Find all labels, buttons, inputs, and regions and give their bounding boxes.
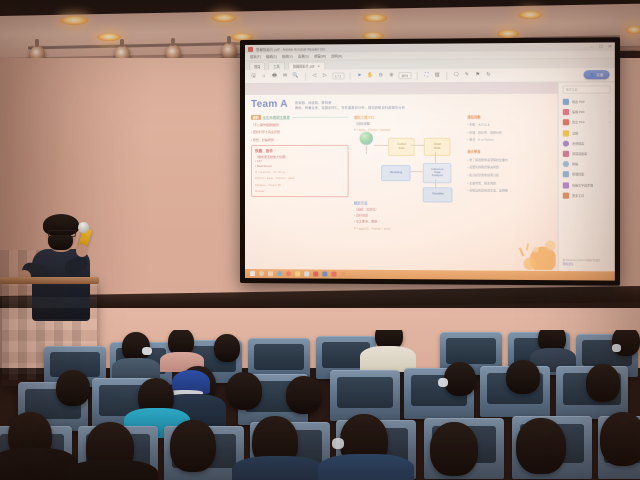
- maximize-button[interactable]: ▢: [599, 45, 603, 49]
- right-bullet-1-1: • 年級：大三以上: [467, 122, 551, 127]
- right-bullet-1-2: • 修課：統計學、迴歸分析: [467, 130, 551, 135]
- tools-footer-link[interactable]: 瞭解更多: [563, 262, 611, 266]
- tool-label: 整理頁面: [572, 173, 584, 177]
- lecture-hall-photo: 簡報投影片.pdf - Adobe Acrobat Reader DC — ▢ …: [0, 0, 640, 480]
- slide-left-column: 資料 全生命週期主題選 （不公開作相關課題） • 更新科學大與主評量 • 發想、…: [251, 114, 349, 264]
- arrow-collect-clean: [411, 144, 424, 145]
- ppt-icon[interactable]: [340, 272, 345, 277]
- baseball-cap: [172, 370, 210, 394]
- tools-box: 軟體、套件 （擅成果互動放大化圖） • API • Dashboard R / …: [251, 145, 349, 197]
- left-bullet-1: • 更新科學大與主評量: [251, 130, 349, 135]
- right-bullet-2-1: • 想了解實際專案流程的企業內: [467, 158, 551, 163]
- toolbar-separator-2: [350, 72, 351, 80]
- pdf-page: Team A 詹崇御、林俊凱、鄭祥淵 黃昕、柯書文彥、電腦系同仁、零售業數據分析…: [245, 83, 558, 272]
- zoom-in-icon[interactable]: ⊕: [388, 72, 395, 79]
- toolbar-separator-3: [417, 72, 418, 80]
- menu-window[interactable]: 視窗(W): [314, 53, 326, 58]
- left-subtitle: （不公開作相關課題）: [251, 123, 349, 127]
- tools-sidebar: 搜尋工具 輸出 PDF ˅ 編輯 PDF ˅: [558, 82, 615, 271]
- export-pdf-icon: [563, 99, 569, 105]
- flow-node-modeling: Modeling: [381, 165, 411, 181]
- audience-shoulders: [66, 460, 158, 480]
- tool-list-1: R / plumber、R / shiny: [255, 170, 345, 175]
- page-next-icon[interactable]: ▷: [321, 73, 328, 80]
- tool-item-edit-text[interactable]: 編輯文字與影像: [559, 180, 615, 190]
- audience-head: [286, 376, 322, 414]
- menu-edit[interactable]: 編輯(E): [266, 54, 277, 59]
- edit-text-icon: [563, 182, 569, 188]
- right-bullet-2-4: • 主動學習、探索問題: [467, 181, 551, 186]
- audience-area: [0, 330, 640, 480]
- home-icon[interactable]: ⌂: [261, 73, 268, 80]
- combine-files-icon: [563, 140, 569, 146]
- left-section-badge: 資料: [251, 115, 261, 121]
- toolbar-separator-1: [305, 72, 306, 80]
- projected-image: 簡報投影片.pdf - Adobe Acrobat Reader DC — ▢ …: [245, 42, 615, 280]
- mail-icon[interactable]: [304, 271, 309, 276]
- right-bullet-2-2: • 需要利用程式解決問題: [467, 165, 551, 170]
- audience-shoulders: [112, 358, 160, 380]
- audience-head: [214, 334, 240, 362]
- podium-top: [0, 277, 99, 284]
- zoom-out-icon[interactable]: ⊖: [377, 72, 384, 79]
- right-bullet-2-3: • 對分析望著重效率分析: [467, 173, 551, 178]
- folder-icon[interactable]: [295, 271, 300, 276]
- fill-sign-icon: [563, 151, 569, 157]
- search-icon[interactable]: [259, 271, 264, 276]
- start-icon[interactable]: [250, 271, 255, 276]
- tool-label: 壓縮: [572, 162, 578, 166]
- arrow-globe-collect: [374, 144, 388, 145]
- acrobat-body: Team A 詹崇御、林俊凱、鄭祥淵 黃昕、柯書文彥、電腦系同仁、零售業數據分析…: [245, 82, 615, 271]
- fit-page-icon[interactable]: ⛶: [423, 72, 430, 79]
- tools-search-input[interactable]: 搜尋工具: [563, 85, 611, 93]
- tool-item-comment[interactable]: 註解: [559, 128, 615, 138]
- highlight-icon[interactable]: ▨: [434, 72, 441, 79]
- tools-box-title: 軟體、套件: [255, 149, 345, 154]
- document-pane[interactable]: Team A 詹崇御、林俊凱、鄭祥淵 黃昕、柯書文彥、電腦系同仁、零售業數據分析…: [245, 83, 558, 272]
- slide-authors: 詹崇御、林俊凱、鄭祥淵 黃昕、柯書文彥、電腦系同仁、零售業數據分析、國資訊驗資料…: [295, 99, 405, 110]
- left-section-header: 資料 全生命週期主題選: [251, 114, 349, 120]
- compress-icon: [563, 161, 569, 167]
- slide-content: Team A 詹崇御、林俊凱、鄭祥淵 黃昕、柯書文彥、電腦系同仁、零售業數據分析…: [245, 94, 558, 271]
- tool-label: 輸出 PDF: [572, 100, 585, 104]
- projection-screen: 簡報投影片.pdf - Adobe Acrobat Reader DC — ▢ …: [240, 37, 620, 286]
- divider: [292, 117, 349, 118]
- downlight-3: [212, 14, 236, 22]
- audience-head: [600, 412, 640, 466]
- right-bullet-1-3: • 程式：R or Python: [467, 138, 551, 143]
- word-icon[interactable]: [322, 272, 327, 277]
- right-heading-1: 課程規劃: [467, 114, 551, 119]
- tool-item-export-pdf[interactable]: 輸出 PDF ˅: [559, 97, 615, 108]
- tab-home-label: 首頁: [254, 64, 260, 69]
- middle-source-label: （資料清理）: [354, 121, 462, 125]
- downlight-8: [497, 30, 519, 38]
- middle-bottom-bullet-2: • 交叉應用、圖像: [354, 219, 462, 224]
- toolbar-separator-4: [446, 71, 447, 79]
- middle-bottom-subtitle: （迴歸、常變化）: [354, 207, 462, 211]
- tool-item-edit-pdf[interactable]: 編輯 PDF ˅: [559, 107, 615, 118]
- tool-item-more-tools[interactable]: 更多工具: [559, 190, 615, 201]
- tools-box-bullet-1: • API: [255, 159, 345, 164]
- audience-head: [56, 370, 90, 406]
- flow-node-inference: Inference Data Analysis: [423, 163, 452, 183]
- search-icon[interactable]: 🔍: [292, 73, 299, 80]
- face-mask: [332, 438, 344, 449]
- share-icon: 👤: [590, 73, 594, 77]
- face-mask: [142, 347, 152, 355]
- decorative-illustration: [502, 233, 556, 270]
- globe-icon: [360, 131, 373, 144]
- select-tool-icon[interactable]: ➤: [356, 72, 363, 79]
- authors-line-2: 黃昕、柯書文彥、電腦系同仁、零售業數據分析、國資訊驗資料處理及分析: [295, 105, 405, 110]
- downlight-2: [97, 33, 121, 41]
- tool-label: 編輯 PDF: [572, 110, 585, 114]
- tool-item-create-pdf[interactable]: 建立 PDF ˅: [559, 117, 615, 128]
- audience-head: [516, 418, 566, 474]
- tool-label: 註解: [572, 131, 578, 135]
- window-title: 簡報投影片.pdf - Adobe Acrobat Reader DC: [256, 46, 325, 51]
- arrow-inference-visualize: [435, 179, 436, 187]
- tool-item-fill-sign[interactable]: 填寫與簽署: [559, 149, 615, 159]
- tab-home[interactable]: 首頁: [249, 62, 265, 70]
- flow-node-visualize: Visualize: [423, 187, 453, 202]
- tool-item-combine-files[interactable]: 合併檔案: [559, 138, 615, 148]
- presenter-right-hand: [76, 244, 88, 257]
- audience-head: [612, 330, 640, 356]
- downlight-1: [60, 16, 88, 25]
- face-mask: [48, 235, 73, 250]
- comment-icon[interactable]: 🗨: [453, 72, 460, 79]
- menu-sign[interactable]: 簽署(S): [298, 54, 309, 59]
- create-pdf-icon: [563, 120, 569, 126]
- tab-tools-label: 工具: [273, 64, 279, 69]
- downlight-9: [626, 26, 640, 34]
- audience-head: [444, 362, 476, 396]
- audience-head: [430, 422, 478, 476]
- tool-label: 更多工具: [572, 193, 584, 197]
- face-mask: [438, 378, 448, 387]
- flow-diagram: Collect Data Clean Data Inference Data A…: [354, 135, 462, 198]
- window-controls: — ▢ ✕: [590, 44, 612, 48]
- audience-shoulders: [318, 454, 414, 480]
- chevron-down-icon[interactable]: ˅: [609, 110, 611, 114]
- flow-node-clean: Clean Data: [424, 137, 451, 155]
- slide-middle-column: 資料之理 ETL （資料清理） R / dplyr、Python / panda…: [354, 114, 462, 265]
- hand-tool-icon[interactable]: ✋: [367, 72, 374, 79]
- acrobat-app-icon: [248, 46, 253, 51]
- acrobat-icon[interactable]: [313, 271, 318, 276]
- pen-icon[interactable]: ✎: [463, 72, 470, 79]
- menu-help[interactable]: 說明(H): [331, 53, 342, 58]
- audience-shoulders: [232, 456, 324, 480]
- comment-icon: [563, 130, 569, 136]
- slide-title: Team A: [251, 100, 288, 110]
- chrome-icon[interactable]: [286, 271, 291, 276]
- audience-head: [586, 364, 620, 402]
- middle-source-value: R / dplyr、Python / pandas: [354, 127, 462, 131]
- tool-item-organize-pages[interactable]: 整理頁面: [559, 169, 615, 179]
- email-icon[interactable]: ✉: [282, 73, 289, 80]
- face-mask: [612, 344, 621, 352]
- excel-icon[interactable]: [331, 272, 336, 277]
- zoom-level[interactable]: 80%: [399, 72, 412, 79]
- tool-item-compress[interactable]: 壓縮: [559, 159, 615, 169]
- chevron-down-icon[interactable]: ˅: [609, 100, 611, 104]
- taskview-icon[interactable]: [268, 271, 273, 276]
- tool-label: 填寫與簽署: [572, 152, 587, 156]
- tab-document[interactable]: 簡報投影片.pdf ✕: [288, 61, 325, 69]
- middle-section-title: 資料之理 ETL: [354, 114, 462, 119]
- middle-bottom-note: R / ggplot2、Python / plotly: [354, 226, 462, 230]
- menu-view[interactable]: 檢視(V): [282, 54, 293, 59]
- rotate-icon[interactable]: ↻: [485, 72, 492, 79]
- right-heading-2: 適合學員: [467, 149, 551, 154]
- tools-footer: 將 Document Cloud 中儲存的檔案 瞭解更多: [559, 256, 615, 268]
- downlight-5: [363, 14, 387, 22]
- left-section-title: 全生命週期主題選: [263, 115, 290, 120]
- slide-header: Team A 詹崇御、林俊凱、鄭祥淵 黃昕、柯書文彥、電腦系同仁、零售業數據分析…: [251, 99, 551, 111]
- middle-bottom-bullet-1: • 資料視覺: [354, 213, 462, 218]
- downlight-7: [518, 11, 542, 19]
- tab-tools[interactable]: 工具: [268, 62, 284, 70]
- minimize-button[interactable]: —: [590, 45, 594, 49]
- audience-head: [170, 420, 216, 472]
- chevron-down-icon[interactable]: ˅: [609, 121, 611, 125]
- organize-pages-icon: [563, 172, 569, 178]
- page-indicator: 1 / 1: [332, 72, 344, 79]
- print-icon[interactable]: 🖶: [271, 73, 278, 80]
- left-bullet-2: • 發想、討論問題: [251, 138, 349, 143]
- acrobat-window: 簡報投影片.pdf - Adobe Acrobat Reader DC — ▢ …: [245, 42, 615, 280]
- share-button[interactable]: 👤 共用: [584, 70, 610, 79]
- audience-head: [506, 360, 540, 394]
- edge-icon[interactable]: [277, 271, 282, 276]
- tools-box-bullet-2: • Dashboard: [255, 164, 345, 169]
- tool-label: 建立 PDF: [572, 121, 585, 125]
- tool-list-4: Docker: [255, 189, 345, 194]
- windows-taskbar: [245, 269, 615, 281]
- tab-document-label: 簡報投影片.pdf: [293, 64, 314, 69]
- share-label: 共用: [596, 72, 603, 77]
- close-icon[interactable]: ✕: [317, 64, 320, 68]
- tool-label: 合併檔案: [572, 141, 584, 145]
- tools-box-subtitle: （擅成果互動放大化圖）: [255, 155, 345, 159]
- arrow-clean-inference: [435, 151, 436, 162]
- tool-list-2: Python / flask、Python / dash: [255, 176, 345, 181]
- edit-pdf-icon: [563, 109, 569, 115]
- page-prev-icon[interactable]: ◁: [311, 73, 318, 80]
- close-button[interactable]: ✕: [608, 44, 612, 48]
- more-tools-icon: [563, 192, 569, 198]
- right-bullet-2-5: • 考驗自我並完成文案、互相補: [467, 189, 551, 194]
- save-icon[interactable]: 🖫: [250, 73, 257, 80]
- tool-label: 編輯文字與影像: [572, 183, 593, 187]
- stamp-icon[interactable]: ⚑: [474, 72, 481, 79]
- menu-file[interactable]: 檔案(F): [250, 54, 261, 59]
- flow-node-collect: Collect Data: [388, 137, 414, 155]
- tool-list-3: Tableau、Power BI: [255, 183, 345, 188]
